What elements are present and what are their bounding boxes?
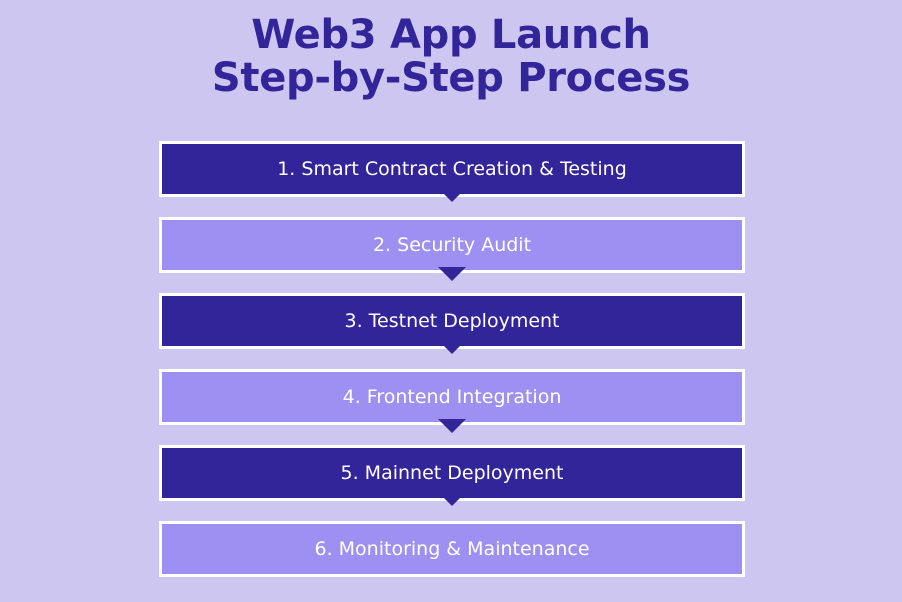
arrow-down-icon-5 [441, 495, 463, 506]
page-title-line-1: Web3 App Launch [0, 14, 902, 57]
flow-step-3-label: 3. Testnet Deployment [344, 310, 559, 332]
flow-step-2-label: 2. Security Audit [373, 234, 531, 256]
flow-step-5-label: 5. Mainnet Deployment [341, 462, 564, 484]
page-title-line-2: Step-by-Step Process [0, 57, 902, 100]
flow-step-3[interactable]: 3. Testnet Deployment [159, 293, 745, 349]
flow-step-1-label: 1. Smart Contract Creation & Testing [277, 158, 627, 180]
flow-step-1[interactable]: 1. Smart Contract Creation & Testing [159, 141, 745, 197]
page-title: Web3 App Launch Step-by-Step Process [0, 14, 902, 100]
arrow-down-icon-3 [441, 343, 463, 354]
flow-step-2[interactable]: 2. Security Audit [159, 217, 745, 273]
flow-step-5[interactable]: 5. Mainnet Deployment [159, 445, 745, 501]
diagram-canvas: Web3 App Launch Step-by-Step Process 1. … [0, 0, 902, 602]
process-flow: 1. Smart Contract Creation & Testing 2. … [159, 141, 745, 577]
flow-step-6-label: 6. Monitoring & Maintenance [314, 538, 589, 560]
flow-step-6[interactable]: 6. Monitoring & Maintenance [159, 521, 745, 577]
flow-step-4-label: 4. Frontend Integration [343, 386, 562, 408]
arrow-down-icon-4 [438, 419, 466, 433]
arrow-down-icon-1 [441, 191, 463, 202]
flow-step-4[interactable]: 4. Frontend Integration [159, 369, 745, 425]
arrow-down-icon-2 [438, 267, 466, 281]
